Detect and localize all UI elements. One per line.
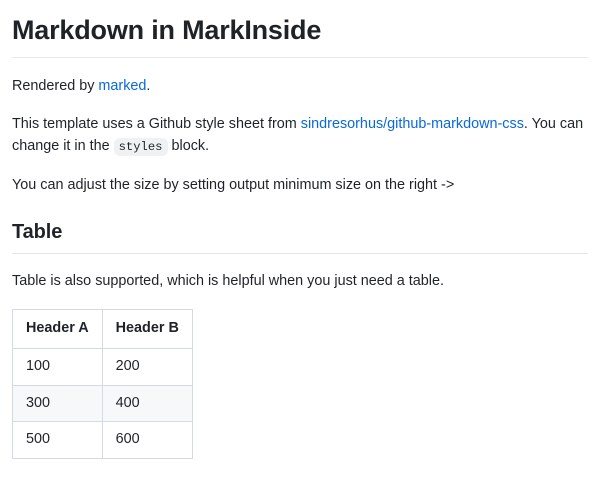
paragraph-rendered-by: Rendered by marked. bbox=[12, 75, 588, 97]
rendered-by-suffix-text: . bbox=[146, 78, 150, 94]
table-cell: 400 bbox=[102, 385, 192, 422]
template-note-suffix-text: block. bbox=[168, 138, 210, 154]
table-column-header-a: Header A bbox=[13, 310, 103, 349]
paragraph-table-intro: Table is also supported, which is helpfu… bbox=[12, 270, 588, 292]
table-cell: 600 bbox=[102, 422, 192, 459]
marked-link[interactable]: marked bbox=[98, 78, 146, 94]
table-column-header-b: Header B bbox=[102, 310, 192, 349]
markdown-preview-pane: Markdown in MarkInside Rendered by marke… bbox=[0, 0, 600, 459]
data-table: Header A Header B 100 200 300 400 500 60… bbox=[12, 309, 193, 458]
template-note-prefix-text: This template uses a Github style sheet … bbox=[12, 116, 301, 132]
table-row: 500 600 bbox=[13, 422, 193, 459]
styles-inline-code: styles bbox=[114, 138, 168, 156]
table-cell: 100 bbox=[13, 349, 103, 386]
table-body: 100 200 300 400 500 600 bbox=[13, 349, 193, 459]
rendered-by-prefix-text: Rendered by bbox=[12, 78, 98, 94]
table-cell: 200 bbox=[102, 349, 192, 386]
table-row: 100 200 bbox=[13, 349, 193, 386]
paragraph-template-note: This template uses a Github style sheet … bbox=[12, 113, 588, 158]
section-heading-table: Table bbox=[12, 220, 588, 254]
table-container: Header A Header B 100 200 300 400 500 60… bbox=[12, 309, 588, 458]
table-cell: 500 bbox=[13, 422, 103, 459]
github-markdown-css-link[interactable]: sindresorhus/github-markdown-css bbox=[301, 116, 524, 132]
table-header-row: Header A Header B bbox=[13, 310, 193, 349]
page-title: Markdown in MarkInside bbox=[12, 14, 588, 58]
table-row: 300 400 bbox=[13, 385, 193, 422]
table-head: Header A Header B bbox=[13, 310, 193, 349]
paragraph-resize-hint: You can adjust the size by setting outpu… bbox=[12, 174, 588, 196]
table-cell: 300 bbox=[13, 385, 103, 422]
